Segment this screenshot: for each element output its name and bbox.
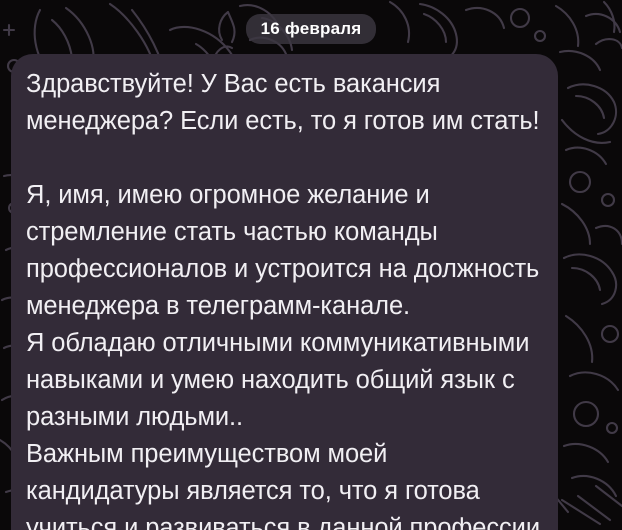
message-bubble-incoming[interactable]: Здравствуйте! У Вас есть вакансия менедж… <box>11 54 558 530</box>
date-divider-pill[interactable]: 16 февраля <box>246 14 377 44</box>
date-divider-row: 16 февраля <box>0 14 622 44</box>
message-text: Здравствуйте! У Вас есть вакансия менедж… <box>26 66 544 530</box>
chat-background: 16 февраля Здравствуйте! У Вас есть вака… <box>0 0 622 530</box>
